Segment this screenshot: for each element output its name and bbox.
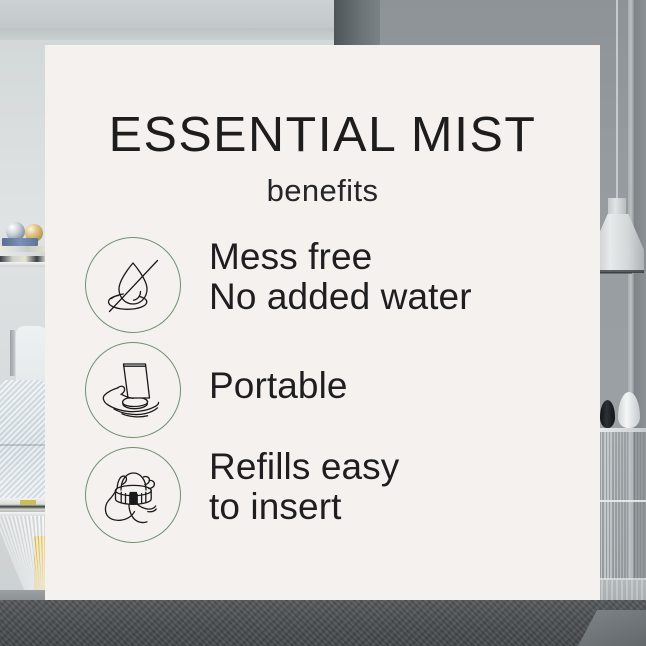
side-table-wire-frame <box>598 432 646 582</box>
wire-strand <box>623 432 624 582</box>
wire-strand <box>629 432 630 582</box>
hand-holding-diffuser-icon <box>85 342 181 438</box>
wire-strand <box>601 432 602 582</box>
benefit-icon-2 <box>85 342 181 438</box>
wire-strand <box>620 432 621 582</box>
chair-pole <box>10 330 15 376</box>
black-vase <box>600 400 615 428</box>
page-title: ESSENTIAL MIST <box>39 107 605 163</box>
wire-strand <box>617 432 618 582</box>
blue-book <box>2 238 38 246</box>
benefit-label: Mess free No added water <box>209 237 472 317</box>
dark-grey-rug <box>0 600 646 646</box>
ceiling-trim <box>0 28 334 40</box>
wire-strand <box>614 432 615 582</box>
wire-strand <box>635 432 636 582</box>
product-benefits-infographic: ESSENTIAL MIST benefits <box>0 0 646 646</box>
hands-inserting-refill-icon <box>85 447 181 543</box>
benefits-list: Mess free No added water <box>45 235 600 550</box>
list-item: Portable <box>45 340 600 445</box>
wire-strand <box>641 432 642 582</box>
wire-strand <box>626 432 627 582</box>
knit-blanket <box>0 380 48 502</box>
yellow-book <box>20 500 36 505</box>
wire-strand <box>604 432 605 582</box>
blanket-fold <box>0 444 48 446</box>
wire-strand <box>632 432 633 582</box>
benefit-label: Portable <box>209 366 348 406</box>
list-item: Refills easy to insert <box>45 445 600 550</box>
no-water-droplet-icon <box>85 237 181 333</box>
page-subtitle: benefits <box>45 173 600 209</box>
wire-strand <box>638 432 639 582</box>
list-item: Mess free No added water <box>45 235 600 340</box>
shelf-plank <box>0 262 48 267</box>
pendant-lamp-neck <box>608 198 626 216</box>
benefits-card: ESSENTIAL MIST benefits <box>45 45 600 600</box>
benefit-label: Refills easy to insert <box>209 447 399 527</box>
benefit-icon-3 <box>85 447 181 543</box>
wire-strand <box>607 432 608 582</box>
wire-strand <box>610 432 611 582</box>
pendant-lamp-cord <box>616 0 618 200</box>
side-table-shelf <box>598 500 646 502</box>
ceiling-panel <box>0 0 334 28</box>
benefit-icon-1 <box>85 237 181 333</box>
